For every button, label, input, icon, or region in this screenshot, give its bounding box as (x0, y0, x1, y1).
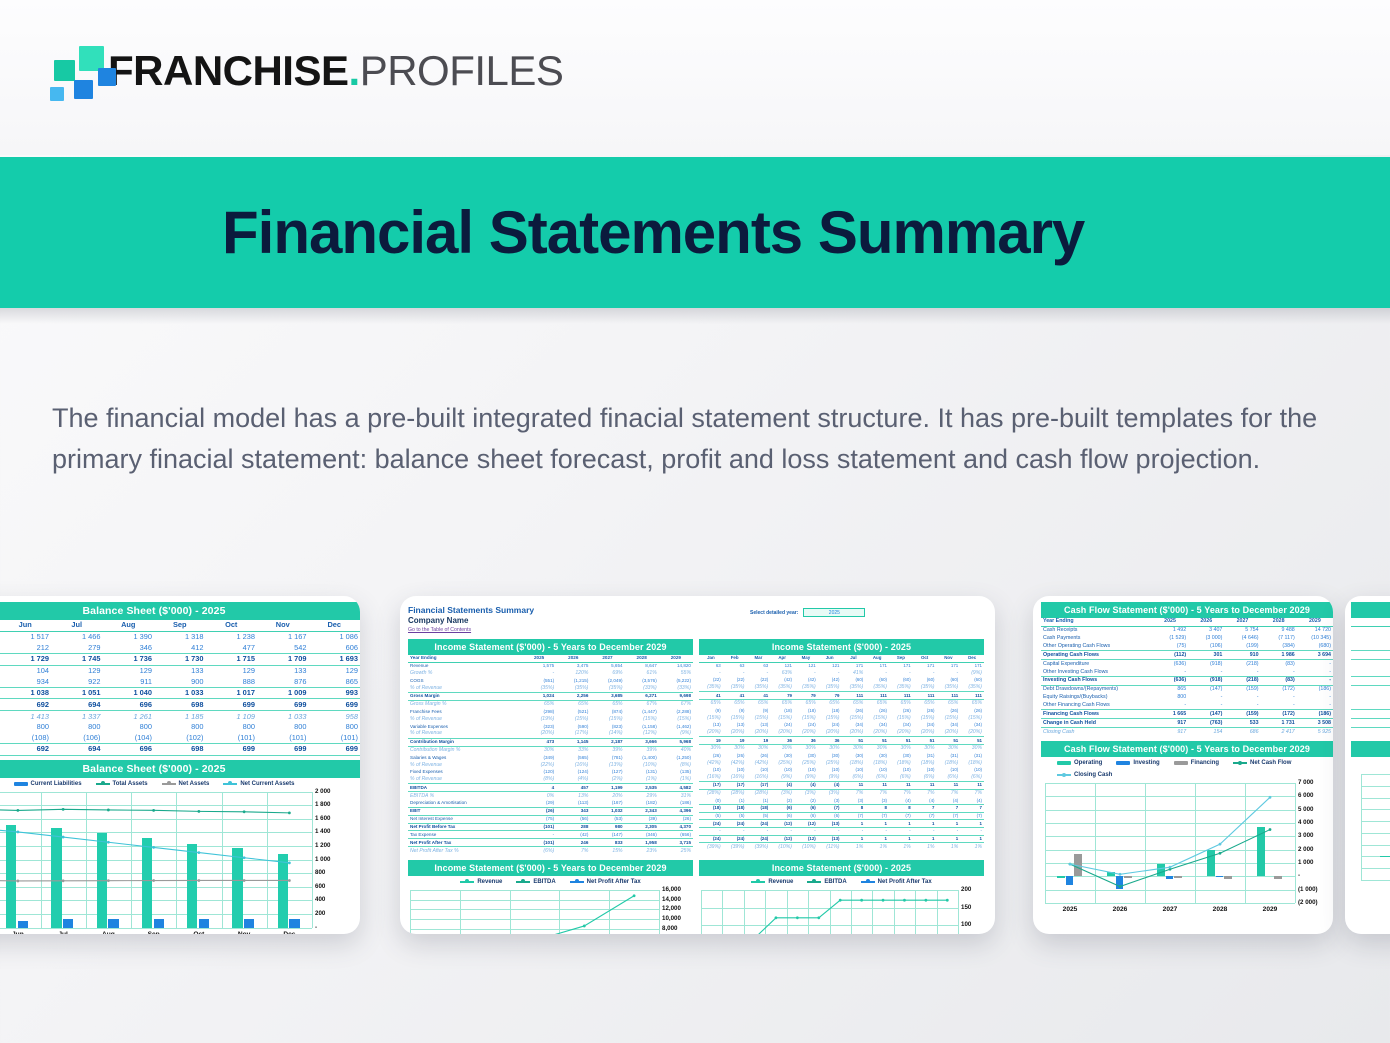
chart-lines (699, 887, 984, 934)
table-cell: 958 (309, 711, 361, 722)
row-label: Revenue (408, 662, 522, 669)
table-cell: 65% (794, 699, 818, 707)
table-cell: 111 (889, 692, 913, 700)
row-label: EBIT (408, 807, 522, 815)
legend-label: Closing Cash (1074, 772, 1112, 778)
table-cell: (24) (747, 820, 771, 828)
table-row: % of Revenue(35%)(35%)(35%)(33%)(33%) (408, 684, 693, 692)
row-label: EBITDA % (408, 792, 522, 800)
table-row: Gross Margin1,0242,2563,6856,2719,698 (408, 693, 693, 701)
table-cell: 111 (960, 692, 984, 700)
table-cell: 30% (913, 744, 937, 752)
table-cell: (680) (1297, 643, 1333, 651)
table-row: Net Profit After Tax %(6%)7%15%23%25% (408, 847, 693, 855)
table-cell: 14,820 (659, 662, 693, 669)
table-cell: 120% (556, 670, 590, 678)
table-cell: (6%) (889, 773, 913, 781)
table-cell: 5,654 (590, 662, 624, 669)
table-row: Capital Expenditure(636)(918)(218)(83)- (1041, 660, 1333, 668)
cash-flow-card[interactable]: Cash Flow Statement ($'000) - 5 Years to… (1033, 596, 1333, 934)
table-cell: Nov (937, 655, 961, 662)
income-statement-card[interactable]: Financial Statements Summary Company Nam… (400, 596, 995, 934)
row-label: Depreciation & Amortisation (408, 800, 522, 807)
table-row: EBIT(26)3431,0322,3434,396 (408, 807, 693, 815)
cash-flow-monthly-card[interactable]: Jan32(47)(7)(22)(36)-(36)989800-1 7891 7… (1345, 596, 1390, 934)
table-cell: (147) (590, 831, 624, 839)
table-cell: 800 (257, 722, 309, 733)
table-cell: (9%) (818, 773, 842, 781)
table-cell: (6%) (960, 773, 984, 781)
table-cell: 1 (960, 820, 984, 828)
table-cell: (18%) (842, 759, 866, 767)
table-cell: 1 (913, 820, 937, 828)
table-cell: (20%) (723, 729, 747, 737)
cash-flow-monthly-chart: 7 0006 0005 0004 0003 0002 0001 000-(1 0… (1351, 771, 1390, 893)
table-cell: Mar (747, 655, 771, 662)
table-cell: 65% (842, 699, 866, 707)
table-cell: (10) (913, 767, 937, 774)
table-cell: 1 (889, 820, 913, 828)
table-cell: (34) (889, 722, 913, 729)
row-label: Other Operating Cash Flows (1041, 643, 1152, 651)
table-cell: (10) (960, 767, 984, 774)
table-cell: (20%) (699, 729, 723, 737)
table-cell: (10) (794, 767, 818, 774)
table-cell: 989 (1351, 685, 1390, 693)
legend-swatch (14, 782, 28, 786)
table-cell: 4,582 (659, 784, 693, 792)
table-cell: (18) (747, 804, 771, 812)
table-row: EBITDA %0%13%20%29%31% (408, 792, 693, 800)
table-row: 65%65%65%65%65%65%65%65%65%65%65%65% (699, 699, 984, 707)
table-cell: 30% (842, 744, 866, 752)
table-cell: (7) (960, 812, 984, 820)
table-cell: (12) (770, 820, 794, 828)
table-cell: (28%) (699, 789, 723, 797)
table-row: Operating Cash Flows(112)3019101 9863 69… (1041, 651, 1333, 660)
table-cell: 800 (154, 722, 206, 733)
table-row: Equity Raisings/(Buybacks)800---- (1041, 694, 1333, 702)
table-cell: (1) (723, 797, 747, 804)
table-cell: 1% (865, 843, 889, 851)
income-company-name: Company Name (408, 616, 987, 625)
table-cell: (22) (723, 677, 747, 684)
table-cell: 1 185 (154, 711, 206, 722)
table-cell: 1 167 (257, 631, 309, 642)
table-cell: (22) (747, 677, 771, 684)
table-cell: (53) (590, 815, 624, 823)
legend-item: Total Assets (96, 781, 148, 787)
table-row: Year Ending20252026202720282029 (408, 655, 693, 662)
table-cell: (6%) (913, 773, 937, 781)
table-cell: (15%) (770, 714, 794, 722)
cash-table-title: Cash Flow Statement ($'000) - 5 Years to… (1041, 602, 1333, 618)
table-cell: 36 (770, 737, 794, 745)
legend-swatch (861, 881, 875, 883)
table-cell: 1 665 (1152, 710, 1188, 719)
table-cell: (1,400) (625, 754, 659, 761)
table-cell: (34) (842, 722, 866, 729)
table-cell: 7% (865, 789, 889, 797)
table-row: (7) (1351, 643, 1390, 651)
income-monthly-table: JanFebMarAprMayJunJulAugSepOctNovDec6363… (699, 655, 984, 851)
table-cell: - (522, 831, 556, 839)
table-cell: (5) (747, 812, 771, 820)
table-cell: 30% (522, 746, 556, 754)
table-cell: 111 (913, 692, 937, 700)
table-cell: (3,576) (625, 677, 659, 684)
table-cell: (12%) (625, 730, 659, 738)
table-cell: 111 (937, 692, 961, 700)
table-cell: (10) (723, 767, 747, 774)
legend-item: Operating (1057, 760, 1102, 766)
table-cell: (1) (747, 797, 771, 804)
table-cell: Jun (818, 655, 842, 662)
table-cell: (36) (1351, 677, 1390, 686)
table-cell: (15%) (747, 714, 771, 722)
table-cell: (24) (747, 835, 771, 843)
table-cell: (17) (723, 781, 747, 789)
table-cell: (5,222) (659, 677, 693, 684)
table-cell: (106) (51, 732, 103, 743)
table-cell: (20%) (913, 729, 937, 737)
table-cell: (22) (1351, 651, 1390, 660)
table-cell: (7) (937, 812, 961, 820)
table-cell: (9) (723, 708, 747, 715)
table-cell: (39%) (699, 843, 723, 851)
table-cell: (6) (794, 804, 818, 812)
balance-sheet-card[interactable]: Balance Sheet ($'000) - 2025 MayJunJulAu… (0, 596, 360, 934)
table-cell: 3 694 (1297, 651, 1333, 660)
table-cell: (60) (960, 677, 984, 684)
table-cell: - (794, 669, 818, 677)
table-cell: (565) (556, 754, 590, 761)
table-cell: 171 (889, 662, 913, 669)
table-cell: 1 693 (309, 653, 361, 665)
table-cell: (101) (257, 732, 309, 743)
table-cell: (15%) (865, 714, 889, 722)
table-cell: (346) (625, 831, 659, 839)
table-cell: (60) (865, 677, 889, 684)
table-cell: 33% (556, 746, 590, 754)
table-cell: 3 407 (1188, 626, 1224, 634)
table-cell: Jul (842, 655, 866, 662)
table-cell: (20%) (522, 730, 556, 738)
legend-swatch (223, 783, 237, 785)
table-cell: 171 (937, 662, 961, 669)
table-cell: (113) (556, 800, 590, 807)
income-5yr-title: Income Statement ($'000) - 5 Years to De… (408, 639, 693, 655)
table-cell: (10) (937, 767, 961, 774)
table-row: (20%)(20%)(20%)(20%)(20%)(20%)(20%)(20%)… (699, 729, 984, 737)
cash-chart-legend: OperatingInvestingFinancingNet Cash Flow… (1041, 757, 1333, 780)
table-cell: (159) (1224, 710, 1260, 719)
table-cell: 477 (206, 642, 258, 653)
table-cell: 2026 (556, 655, 590, 662)
table-cell: (101) (522, 839, 556, 847)
table-cell: (12) (770, 835, 794, 843)
table-row: 1 731 (1351, 719, 1390, 728)
table-row: (15%)(15%)(15%)(15%)(15%)(15%)(15%)(15%)… (699, 714, 984, 722)
banner-shadow (0, 308, 1390, 324)
table-row: Growth %-120%69%61%55% (408, 670, 693, 678)
legend-item: Revenue (751, 879, 793, 885)
table-row: Financing Cash Flows1 665(147)(159)(172)… (1041, 710, 1333, 719)
table-cell: (167) (590, 800, 624, 807)
table-cell: (10) (889, 767, 913, 774)
table-cell: 1,024 (522, 693, 556, 701)
table-row: (22)(22)(22)(42)(42)(42)(60)(60)(60)(60)… (699, 677, 984, 684)
table-cell: (1,215) (556, 677, 590, 684)
cash-flow-table: Year Ending20252026202720282029Cash Rece… (1041, 618, 1333, 736)
table-cell: 121 (770, 662, 794, 669)
row-label: Year Ending (1041, 618, 1152, 626)
table-row: Revenue1,5753,4755,6548,64714,820 (408, 662, 693, 669)
table-row: - (1351, 668, 1390, 676)
table-row: % of Revenue(8%)(4%)(2%)(1%)(1%) (408, 776, 693, 784)
legend-item: EBITDA (807, 879, 846, 885)
table-cell: 63 (699, 662, 723, 669)
table-cell: 104 (0, 665, 51, 676)
table-cell: 65% (699, 699, 723, 707)
row-label: Contribution Margin (408, 738, 522, 746)
legend-label: Current Liabilities (31, 781, 82, 787)
table-cell: (20%) (889, 729, 913, 737)
table-cell: (186) (1297, 710, 1333, 719)
table-cell: 65% (960, 699, 984, 707)
table-cell: 8 (842, 804, 866, 812)
table-cell: - (723, 827, 747, 835)
table-cell: - (1297, 694, 1333, 702)
balance-sheet-table: MayJunJulAugSepOctNovDec1 5711 5171 4661… (0, 620, 360, 756)
row-label: Year Ending (408, 655, 522, 662)
table-cell: (7) (889, 812, 913, 820)
table-row: 1 7491 7291 7451 7361 7301 7151 7091 693 (0, 653, 360, 665)
table-cell: (30) (865, 752, 889, 759)
table-cell: 1 715 (206, 653, 258, 665)
income-monthly-title: Income Statement ($'000) - 2025 (699, 639, 984, 655)
table-row: Net Profit After Tax(101)2468331,9583,71… (408, 839, 693, 847)
income-5yr-table: Year Ending20252026202720282029Revenue1,… (408, 655, 693, 855)
table-cell: 79 (770, 692, 794, 700)
table-row: 1 0451 0381 0511 0401 0331 0171 009993 (0, 687, 360, 699)
select-year-input[interactable]: 2025 (803, 608, 865, 617)
row-label: Growth % (408, 670, 522, 678)
table-cell: (42%) (747, 759, 771, 767)
table-cell: (7) (865, 812, 889, 820)
table-cell: (26) (889, 708, 913, 715)
table-cell: 1 (913, 835, 937, 843)
table-cell: 129 (206, 665, 258, 676)
row-label: Other Investing Cash Flows (1041, 668, 1152, 676)
table-cell: 888 (206, 676, 258, 687)
table-cell: (13) (818, 835, 842, 843)
table-cell: 111 (865, 692, 889, 700)
legend-label: Investing (1133, 760, 1159, 766)
table-row: ------------ (699, 827, 984, 835)
table-cell: (20%) (818, 729, 842, 737)
table-cell: 51 (960, 737, 984, 745)
table-row: COGS(551)(1,215)(2,049)(3,576)(5,222) (408, 677, 693, 684)
table-cell: - (1152, 668, 1188, 676)
table-cell: 31% (659, 792, 693, 800)
table-cell: Jun (0, 620, 51, 631)
table-cell: (60) (889, 677, 913, 684)
table-cell: (13) (723, 722, 747, 729)
table-cell: 900 (154, 676, 206, 687)
table-cell: 39% (590, 746, 624, 754)
table-cell: (918) (1188, 677, 1224, 686)
table-cell: (15%) (818, 714, 842, 722)
row-label: % of Revenue (408, 776, 522, 784)
table-cell: (14%) (590, 730, 624, 738)
row-label: Cash Receipts (1041, 626, 1152, 634)
legend-item: Net Profit After Tax (861, 879, 932, 885)
table-row: 636363121121121171171171171171171 (699, 662, 984, 669)
table-cell: (18%) (913, 759, 937, 767)
table-cell: Apr (770, 655, 794, 662)
table-cell: 51 (842, 737, 866, 745)
table-cell: 279 (51, 642, 103, 653)
table-cell: (35%) (889, 684, 913, 692)
table-cell: (101) (522, 823, 556, 831)
table-row: Closing Cash9171546862 4175 925 (1041, 728, 1333, 736)
table-cell: (874) (590, 709, 624, 716)
table-cell: - (1351, 668, 1390, 676)
table-cell: 1 038 (0, 687, 51, 699)
table-cell: 1 789 (1351, 710, 1390, 719)
table-cell: (763) (1188, 719, 1224, 728)
table-cell: (24) (794, 722, 818, 729)
table-cell: 2026 (1188, 618, 1224, 626)
legend-label: Net Profit After Tax (878, 879, 932, 885)
table-cell: 1,145 (556, 738, 590, 746)
table-cell: (75) (1152, 643, 1188, 651)
table-cell: (33%) (659, 684, 693, 692)
table-cell: (4%) (556, 776, 590, 784)
table-cell: 1 492 (1152, 626, 1188, 634)
row-label: % of Revenue (408, 715, 522, 723)
table-cell: 63 (747, 662, 771, 669)
table-cell: 13% (556, 792, 590, 800)
table-cell: Sep (889, 655, 913, 662)
logo-dot: . (349, 47, 360, 94)
table-cell: 1 731 (1351, 719, 1390, 728)
table-row: Fixed Expenses(120)(124)(127)(131)(135) (408, 769, 693, 776)
table-cell: (1%) (659, 776, 693, 784)
table-cell: 51 (937, 737, 961, 745)
table-row: Gross Margin %65%65%65%67%67% (408, 700, 693, 708)
table-cell: 800 (1351, 694, 1390, 702)
table-cell: Jul (51, 620, 103, 631)
table-cell: (39%) (723, 843, 747, 851)
table-cell: - (1297, 677, 1333, 686)
table-cell: 699 (309, 699, 361, 711)
chart-lines (0, 789, 352, 934)
table-cell: (4) (889, 797, 913, 804)
table-cell: - (937, 827, 961, 835)
table-cell: Jan (699, 655, 723, 662)
table-row: (18)(18)(18)(6)(6)(7)888777 (699, 804, 984, 812)
table-cell: (47) (1351, 635, 1390, 643)
table-cell: 8,647 (625, 662, 659, 669)
table-cell: (35%) (556, 684, 590, 692)
table-cell: (18) (723, 804, 747, 812)
table-row: 703692694696698699699699 (0, 699, 360, 711)
chart-lines (1351, 771, 1390, 893)
table-cell: (656) (659, 831, 693, 839)
row-label: Investing Cash Flows (1041, 677, 1152, 686)
table-cell: 1 (937, 835, 961, 843)
legend-label: Financing (1191, 760, 1219, 766)
table-cell: (4) (770, 781, 794, 789)
table-cell: 19 (723, 737, 747, 745)
legend-swatch (1057, 761, 1071, 765)
table-cell: (24) (699, 835, 723, 843)
table-cell: - (1261, 702, 1297, 710)
table-cell: 55% (659, 670, 693, 678)
table-cell: - (1188, 702, 1224, 710)
table-cell: (10) (865, 767, 889, 774)
table-cell: (10%) (625, 761, 659, 769)
table-cell: 19 (699, 737, 723, 745)
table-cell: - (1224, 702, 1260, 710)
table-row: % of Revenue(22%)(16%)(13%)(10%)(8%) (408, 761, 693, 769)
table-cell: 1 051 (51, 687, 103, 699)
table-cell: - (889, 827, 913, 835)
table-cell: - (1351, 702, 1390, 710)
table-cell: Nov (257, 620, 309, 631)
table-row: 1 789 (1351, 710, 1390, 719)
table-row: Other Investing Cash Flows----- (1041, 668, 1333, 676)
table-cell: (26) (937, 708, 961, 715)
table-cell: (4) (913, 797, 937, 804)
table-cell: (30) (770, 752, 794, 759)
table-cell: (636) (1152, 660, 1188, 668)
table-cell: (11%) (818, 843, 842, 851)
legend-item: Revenue (460, 879, 502, 885)
row-label: Equity Raisings/(Buybacks) (1041, 694, 1152, 702)
table-cell: (36) (1351, 660, 1390, 668)
legend-swatch (1233, 762, 1247, 764)
table-cell: 1 736 (103, 653, 155, 665)
table-cell: 3,685 (590, 693, 624, 701)
table-row: (47) (1351, 635, 1390, 643)
table-cell: (15%) (699, 714, 723, 722)
table-of-contents-link[interactable]: Go to the Table of Contents (408, 627, 987, 633)
table-cell: 30% (794, 744, 818, 752)
row-label: Closing Cash (1041, 728, 1152, 736)
table-cell: (2,049) (590, 677, 624, 684)
table-cell: (24) (723, 820, 747, 828)
table-cell: (26) (960, 708, 984, 715)
table-row: (0)(1)(1)(2)(2)(3)(3)(3)(4)(4)(4)(4) (699, 797, 984, 804)
table-cell: (218) (1224, 660, 1260, 668)
table-cell: (22%) (522, 761, 556, 769)
table-cell: 1 730 (154, 653, 206, 665)
table-cell: (83) (1261, 660, 1297, 668)
row-label: Franchise Fees (408, 709, 522, 716)
table-cell: 1% (913, 843, 937, 851)
legend-item: Net Cash Flow (1233, 760, 1291, 766)
row-label: Financing Cash Flows (1041, 710, 1152, 719)
income-monthly-chart: 20015010050-(50)JanFebMarAprMayJunJulAug… (699, 887, 984, 934)
table-cell: (31) (960, 752, 984, 759)
table-cell: 7 (960, 804, 984, 812)
table-row: 101104129129133129133129 (0, 665, 360, 676)
table-cell: (35%) (747, 684, 771, 692)
table-row: 945934922911900888876865 (0, 676, 360, 687)
